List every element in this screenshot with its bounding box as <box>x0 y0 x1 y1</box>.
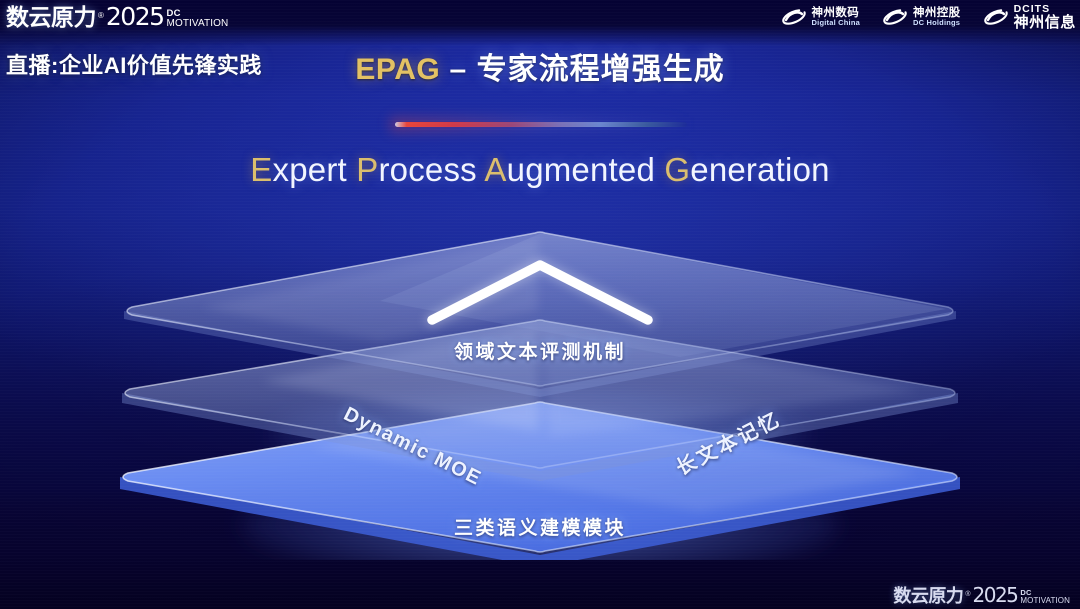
scanline <box>0 99 1080 100</box>
scanline <box>0 549 1080 550</box>
scanline <box>0 45 1080 46</box>
scanline <box>0 402 1080 403</box>
scanline <box>0 9 1080 10</box>
scanline <box>0 582 1080 583</box>
scanline <box>0 120 1080 121</box>
scanline <box>0 444 1080 445</box>
scanline <box>0 576 1080 577</box>
scanline <box>0 141 1080 142</box>
scanline <box>0 489 1080 490</box>
scanline <box>0 24 1080 25</box>
scanline <box>0 279 1080 280</box>
scanline <box>0 336 1080 337</box>
scanline <box>0 330 1080 331</box>
scanline <box>0 546 1080 547</box>
scanline <box>0 531 1080 532</box>
scanline <box>0 396 1080 397</box>
event-logo: 数云原力 ® 2025 DC MOTIVATION <box>6 4 228 29</box>
scanline <box>0 474 1080 475</box>
scanline <box>0 411 1080 412</box>
scanline <box>0 228 1080 229</box>
scanline <box>0 510 1080 511</box>
scanline <box>0 186 1080 187</box>
scanline <box>0 219 1080 220</box>
scanline <box>0 372 1080 373</box>
scanline <box>0 354 1080 355</box>
scanline <box>0 483 1080 484</box>
scanline <box>0 162 1080 163</box>
scanline <box>0 30 1080 31</box>
scanline <box>0 393 1080 394</box>
scanline <box>0 375 1080 376</box>
scanline <box>0 123 1080 124</box>
scanline <box>0 498 1080 499</box>
scanline <box>0 108 1080 109</box>
scanline <box>0 321 1080 322</box>
scanline <box>0 75 1080 76</box>
scanline <box>0 36 1080 37</box>
scanline <box>0 513 1080 514</box>
scanline <box>0 606 1080 607</box>
scanline <box>0 387 1080 388</box>
scanline <box>0 168 1080 169</box>
scanline <box>0 135 1080 136</box>
scanline <box>0 558 1080 559</box>
scanline <box>0 588 1080 589</box>
scanline <box>0 243 1080 244</box>
scanline <box>0 57 1080 58</box>
scanline <box>0 519 1080 520</box>
scanline <box>0 102 1080 103</box>
scanline <box>0 450 1080 451</box>
scanline <box>0 60 1080 61</box>
scanline <box>0 414 1080 415</box>
scanline <box>0 501 1080 502</box>
scanline <box>0 153 1080 154</box>
scanline <box>0 285 1080 286</box>
scanline <box>0 114 1080 115</box>
scanline <box>0 408 1080 409</box>
scanline <box>0 384 1080 385</box>
scanline <box>0 381 1080 382</box>
scanline <box>0 18 1080 19</box>
scanline <box>0 543 1080 544</box>
scanline <box>0 111 1080 112</box>
scanline <box>0 72 1080 73</box>
scanline <box>0 591 1080 592</box>
scanline <box>0 300 1080 301</box>
scanline <box>0 132 1080 133</box>
scanline <box>0 105 1080 106</box>
scanline <box>0 129 1080 130</box>
scanline <box>0 27 1080 28</box>
scanline <box>0 249 1080 250</box>
scanline <box>0 441 1080 442</box>
scanline <box>0 282 1080 283</box>
scanline <box>0 138 1080 139</box>
scanline <box>0 312 1080 313</box>
scanline <box>0 447 1080 448</box>
scanline <box>0 255 1080 256</box>
scanline <box>0 270 1080 271</box>
scanline <box>0 462 1080 463</box>
scanline <box>0 207 1080 208</box>
scanline <box>0 189 1080 190</box>
scanline <box>0 276 1080 277</box>
scanline <box>0 522 1080 523</box>
scanline <box>0 459 1080 460</box>
scanline <box>0 309 1080 310</box>
scanline <box>0 204 1080 205</box>
scanline <box>0 453 1080 454</box>
scanline <box>0 87 1080 88</box>
scanline <box>0 567 1080 568</box>
scanline <box>0 96 1080 97</box>
scanline <box>0 429 1080 430</box>
scanline <box>0 315 1080 316</box>
scanline <box>0 357 1080 358</box>
scanline <box>0 348 1080 349</box>
scanline <box>0 351 1080 352</box>
scanline <box>0 210 1080 211</box>
scanline <box>0 324 1080 325</box>
scanline <box>0 171 1080 172</box>
scanline <box>0 39 1080 40</box>
scanline <box>0 42 1080 43</box>
scanline <box>0 603 1080 604</box>
scanline <box>0 516 1080 517</box>
scanline <box>0 159 1080 160</box>
scanline <box>0 180 1080 181</box>
scanline <box>0 561 1080 562</box>
scanline <box>0 90 1080 91</box>
scanline <box>0 600 1080 601</box>
scanline <box>0 21 1080 22</box>
scanline <box>0 435 1080 436</box>
scanline <box>0 183 1080 184</box>
scanline <box>0 471 1080 472</box>
scanline <box>0 216 1080 217</box>
scanline <box>0 597 1080 598</box>
scanline <box>0 564 1080 565</box>
scanline <box>0 456 1080 457</box>
scanline <box>0 480 1080 481</box>
scanline <box>0 369 1080 370</box>
scanline <box>0 405 1080 406</box>
scanline <box>0 51 1080 52</box>
scanline <box>0 438 1080 439</box>
scanline <box>0 177 1080 178</box>
scanline <box>0 486 1080 487</box>
scanline <box>0 234 1080 235</box>
scanline <box>0 246 1080 247</box>
scanline <box>0 3 1080 4</box>
scanline <box>0 555 1080 556</box>
event-logo-year: 2025 <box>106 4 164 29</box>
scanline <box>0 48 1080 49</box>
scanline <box>0 423 1080 424</box>
scanline <box>0 15 1080 16</box>
scanline <box>0 192 1080 193</box>
scanline <box>0 78 1080 79</box>
scanline <box>0 366 1080 367</box>
scanline <box>0 573 1080 574</box>
scanline <box>0 390 1080 391</box>
scanline <box>0 339 1080 340</box>
scanline <box>0 345 1080 346</box>
scanline <box>0 63 1080 64</box>
scanline <box>0 360 1080 361</box>
scanline <box>0 333 1080 334</box>
scanline <box>0 225 1080 226</box>
scanline <box>0 240 1080 241</box>
scanline <box>0 156 1080 157</box>
scanline <box>0 432 1080 433</box>
scanline <box>0 594 1080 595</box>
scanline <box>0 144 1080 145</box>
scanline <box>0 198 1080 199</box>
scanline <box>0 417 1080 418</box>
slide-stage: 数云原力 ® 2025 DC MOTIVATION 直播:企业AI价值先锋实践 … <box>0 0 1080 609</box>
scanline <box>0 504 1080 505</box>
scanline <box>0 264 1080 265</box>
scanline <box>0 231 1080 232</box>
scanline <box>0 585 1080 586</box>
scanline <box>0 288 1080 289</box>
scanline <box>0 165 1080 166</box>
scanline <box>0 195 1080 196</box>
scanline <box>0 525 1080 526</box>
scanline <box>0 468 1080 469</box>
scanline <box>0 54 1080 55</box>
scanline <box>0 477 1080 478</box>
scanline <box>0 69 1080 70</box>
scanline <box>0 93 1080 94</box>
scanline <box>0 303 1080 304</box>
scanline <box>0 66 1080 67</box>
scanline <box>0 552 1080 553</box>
scanline <box>0 273 1080 274</box>
scanline <box>0 342 1080 343</box>
scanline <box>0 237 1080 238</box>
scanline <box>0 294 1080 295</box>
scanline <box>0 318 1080 319</box>
scanline <box>0 261 1080 262</box>
scanline <box>0 12 1080 13</box>
scanline <box>0 267 1080 268</box>
scanline <box>0 81 1080 82</box>
scanline <box>0 117 1080 118</box>
scanline <box>0 426 1080 427</box>
scanline <box>0 147 1080 148</box>
scanline <box>0 537 1080 538</box>
scanline <box>0 291 1080 292</box>
scanline <box>0 252 1080 253</box>
scanline <box>0 327 1080 328</box>
scanline <box>0 258 1080 259</box>
scanline <box>0 150 1080 151</box>
scanline <box>0 213 1080 214</box>
scanline <box>0 363 1080 364</box>
scanline <box>0 579 1080 580</box>
scanline <box>0 6 1080 7</box>
scanline <box>0 507 1080 508</box>
scanline <box>0 126 1080 127</box>
scanline <box>0 84 1080 85</box>
scanline <box>0 534 1080 535</box>
scanline <box>0 465 1080 466</box>
scanline <box>0 306 1080 307</box>
scanline <box>0 0 1080 1</box>
scanline <box>0 33 1080 34</box>
scanline <box>0 420 1080 421</box>
scanline <box>0 495 1080 496</box>
scanline <box>0 297 1080 298</box>
scanline <box>0 174 1080 175</box>
scanline <box>0 540 1080 541</box>
scanline <box>0 201 1080 202</box>
scanline <box>0 378 1080 379</box>
scanline <box>0 222 1080 223</box>
scanline <box>0 399 1080 400</box>
scanline <box>0 570 1080 571</box>
scanline <box>0 528 1080 529</box>
scanline <box>0 492 1080 493</box>
